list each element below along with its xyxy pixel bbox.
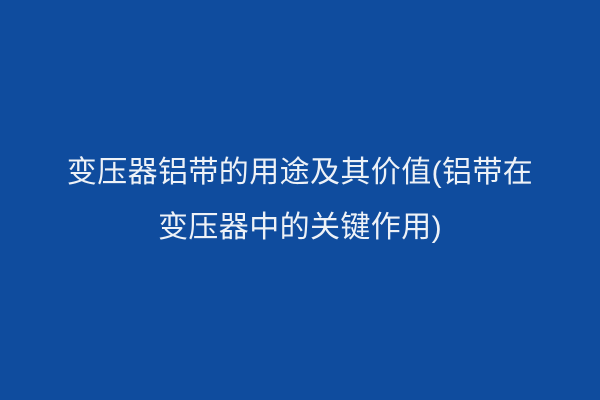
banner-title-line-2: 变压器中的关键作用): [50, 200, 550, 255]
banner-title-line-1: 变压器铝带的用途及其价值(铝带在: [50, 145, 550, 200]
banner-title-block: 变压器铝带的用途及其价值(铝带在 变压器中的关键作用): [50, 145, 550, 255]
title-banner: 变压器铝带的用途及其价值(铝带在 变压器中的关键作用): [0, 0, 600, 400]
